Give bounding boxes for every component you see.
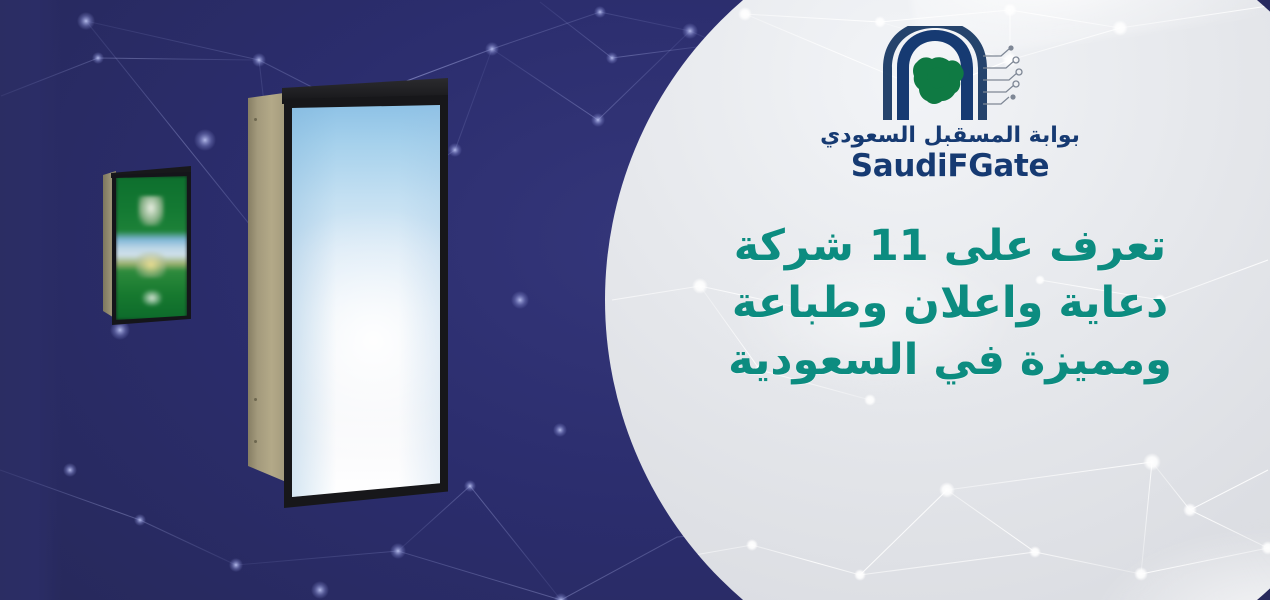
lightbox-display-unit-large (248, 78, 448, 508)
saudifgate-arch-logo-icon (859, 26, 1041, 122)
banner-canvas: بوابة المسقبل السعودي SaudiFGate تعرف عل… (0, 0, 1270, 600)
kiosk-small-image-top (138, 196, 164, 226)
logo-english-name: SaudiFGate (851, 149, 1050, 184)
brand-logo[interactable]: بوابة المسقبل السعودي SaudiFGate (640, 26, 1260, 184)
lightbox-display-unit-small (103, 166, 191, 326)
left-edge-shade (0, 0, 62, 600)
headline-line-1: تعرف على 11 شركة (660, 218, 1240, 275)
kiosk-small-image-middle (136, 252, 166, 278)
headline-line-3: ومميزة في السعودية (660, 332, 1240, 389)
headline-line-2: دعاية واعلان وطباعة (660, 275, 1240, 332)
content-column: بوابة المسقبل السعودي SaudiFGate تعرف عل… (640, 0, 1260, 600)
kiosk-small-screen (116, 176, 187, 320)
kiosk-large-screen (292, 105, 440, 497)
logo-arabic-name: بوابة المسقبل السعودي (820, 124, 1080, 148)
kiosk-small-image-bottom (142, 290, 162, 306)
page-title: تعرف على 11 شركة دعاية واعلان وطباعة ومم… (660, 218, 1240, 390)
